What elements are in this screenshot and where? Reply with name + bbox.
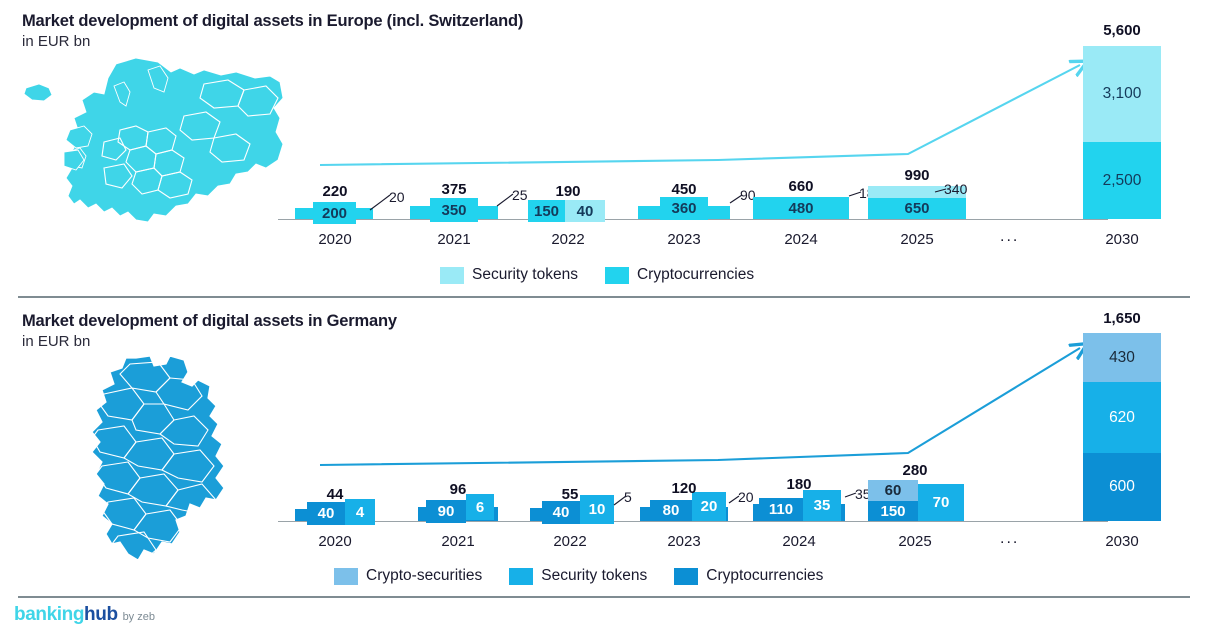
- germany-seg-cryptocurrencies-2020: 40: [307, 502, 345, 525]
- europe-bar-2021: 350: [410, 202, 498, 219]
- germany-seg-security-tokens-2024: 35: [803, 490, 841, 521]
- europe-subtitle: in EUR bn: [22, 33, 90, 50]
- logo-part-hub: hub: [84, 604, 118, 625]
- panel-divider: [18, 296, 1190, 298]
- germany-map: [58, 354, 258, 576]
- europe-xlabel-2025: 2025: [867, 231, 967, 248]
- europe-total-2024: 660: [751, 178, 851, 195]
- germany-bar-2024: 110 35: [753, 494, 845, 521]
- germany-xlabel-2020: 2020: [285, 533, 385, 550]
- logo-part-byzeb: by zeb: [123, 611, 155, 623]
- germany-total-2030: 1,650: [1072, 310, 1172, 327]
- germany-title: Market development of digital assets in …: [22, 312, 397, 331]
- germany-total-2022: 55: [520, 486, 620, 503]
- europe-seg-tokens-2030: 3,100: [1083, 46, 1161, 142]
- germany-axis: [278, 521, 1108, 522]
- germany-xlabel-2030: 2030: [1072, 533, 1172, 550]
- germany-seg-cryptocurrencies-2030: 600: [1083, 453, 1161, 521]
- germany-seg-cryptocurrencies-2022: 40: [542, 501, 580, 524]
- europe-seg-crypto-2023-label: 360: [660, 197, 708, 220]
- europe-trend-arrow: [318, 52, 1093, 177]
- europe-bar-2020: 200: [295, 204, 373, 219]
- footer-divider: [18, 596, 1190, 598]
- europe-bar-2030: 3,100 2,500: [1083, 46, 1161, 219]
- europe-total-2022: 190: [518, 183, 618, 200]
- germany-trend-arrow: [318, 336, 1093, 486]
- germany-callout-2022: 5: [624, 489, 632, 505]
- germany-seg-cryptocurrencies-2024: 110: [759, 498, 803, 521]
- germany-panel: Market development of digital assets in …: [0, 300, 1208, 641]
- germany-legend-label-security-tokens: Security tokens: [541, 567, 647, 585]
- germany-bar-2021: 90 6: [418, 503, 498, 521]
- europe-total-2021: 375: [404, 181, 504, 198]
- europe-xlabel-2021: 2021: [404, 231, 504, 248]
- germany-seg-crypto-securities-2030: 430: [1083, 333, 1161, 382]
- germany-seg-cryptocurrencies-2025: 150: [868, 501, 918, 521]
- germany-legend-label-cryptocurrencies: Cryptocurrencies: [706, 567, 823, 585]
- europe-legend: Security tokens Cryptocurrencies: [440, 266, 770, 284]
- europe-gap-ellipsis: ...: [1000, 228, 1019, 246]
- germany-bar-2025: 150 70 60: [868, 480, 964, 521]
- europe-bar-2023: 360: [638, 200, 730, 219]
- europe-legend-label-security-tokens: Security tokens: [472, 266, 578, 284]
- europe-total-2030: 5,600: [1072, 22, 1172, 39]
- europe-map: [8, 56, 288, 228]
- europe-xlabel-2023: 2023: [634, 231, 734, 248]
- germany-xlabel-2023: 2023: [634, 533, 734, 550]
- europe-legend-swatch-security-tokens: [440, 267, 464, 284]
- europe-seg-crypto-2030: 2,500: [1083, 142, 1161, 219]
- europe-callout-2020: 20: [389, 189, 405, 205]
- europe-legend-item-cryptocurrencies[interactable]: Cryptocurrencies: [605, 266, 754, 284]
- europe-xlabel-2020: 2020: [285, 231, 385, 248]
- germany-total-2024: 180: [749, 476, 849, 493]
- europe-seg-crypto-2024-label: 480: [777, 198, 825, 219]
- germany-legend-swatch-cryptocurrencies: [674, 568, 698, 585]
- germany-legend-swatch-security-tokens: [509, 568, 533, 585]
- germany-seg-cryptocurrencies-2021: 90: [426, 500, 466, 523]
- germany-bar-2020: 40 4: [295, 506, 375, 521]
- europe-title: Market development of digital assets in …: [22, 12, 523, 31]
- germany-legend-swatch-crypto-securities: [334, 568, 358, 585]
- germany-total-2023: 120: [634, 480, 734, 497]
- europe-seg-crypto-2025: 650: [868, 198, 966, 219]
- germany-legend-item-crypto-securities[interactable]: Crypto-securities: [334, 567, 482, 585]
- germany-subtitle: in EUR bn: [22, 333, 90, 350]
- europe-seg-tokens-2022: 40: [565, 200, 605, 222]
- europe-legend-swatch-cryptocurrencies: [605, 267, 629, 284]
- germany-gap-ellipsis: ...: [1000, 530, 1019, 548]
- logo-part-banking: banking: [14, 604, 84, 625]
- bankinghub-logo[interactable]: bankinghub by zeb: [14, 604, 155, 626]
- europe-seg-crypto-2020-label: 200: [313, 202, 356, 224]
- europe-total-2020: 220: [285, 183, 385, 200]
- europe-xlabel-2024: 2024: [751, 231, 851, 248]
- germany-legend: Crypto-securities Security tokens Crypto…: [334, 567, 839, 585]
- germany-total-2020: 44: [285, 486, 385, 503]
- germany-xlabel-2022: 2022: [520, 533, 620, 550]
- germany-total-2021: 96: [408, 481, 508, 498]
- europe-xlabel-2022: 2022: [518, 231, 618, 248]
- europe-legend-item-security-tokens[interactable]: Security tokens: [440, 266, 578, 284]
- germany-legend-item-security-tokens[interactable]: Security tokens: [509, 567, 647, 585]
- europe-bar-2022: 150 40: [528, 203, 596, 219]
- germany-bar-2030: 430 620 600: [1083, 333, 1161, 521]
- europe-total-2025: 990: [867, 167, 967, 184]
- germany-seg-crypto-securities-2025: 60: [868, 480, 918, 501]
- europe-seg-crypto-2022: 150: [528, 200, 565, 222]
- europe-seg-crypto-2021-label: 350: [430, 198, 478, 222]
- germany-xlabel-2025: 2025: [865, 533, 965, 550]
- germany-legend-label-crypto-securities: Crypto-securities: [366, 567, 482, 585]
- germany-xlabel-2021: 2021: [408, 533, 508, 550]
- europe-legend-label-cryptocurrencies: Cryptocurrencies: [637, 266, 754, 284]
- europe-xlabel-2030: 2030: [1072, 231, 1172, 248]
- germany-seg-security-tokens-2025: 70: [918, 484, 964, 521]
- germany-seg-cryptocurrencies-2023: 80: [650, 500, 692, 521]
- europe-panel: Market development of digital assets in …: [0, 0, 1208, 296]
- europe-total-2023: 450: [634, 181, 734, 198]
- germany-xlabel-2024: 2024: [749, 533, 849, 550]
- germany-total-2025: 280: [865, 462, 965, 479]
- germany-bar-2022: 40 10: [530, 503, 612, 521]
- europe-bar-2024: 480: [753, 197, 849, 219]
- germany-bar-2023: 80 20: [640, 500, 728, 521]
- germany-seg-security-tokens-2030: 620: [1083, 382, 1161, 453]
- germany-legend-item-cryptocurrencies[interactable]: Cryptocurrencies: [674, 567, 823, 585]
